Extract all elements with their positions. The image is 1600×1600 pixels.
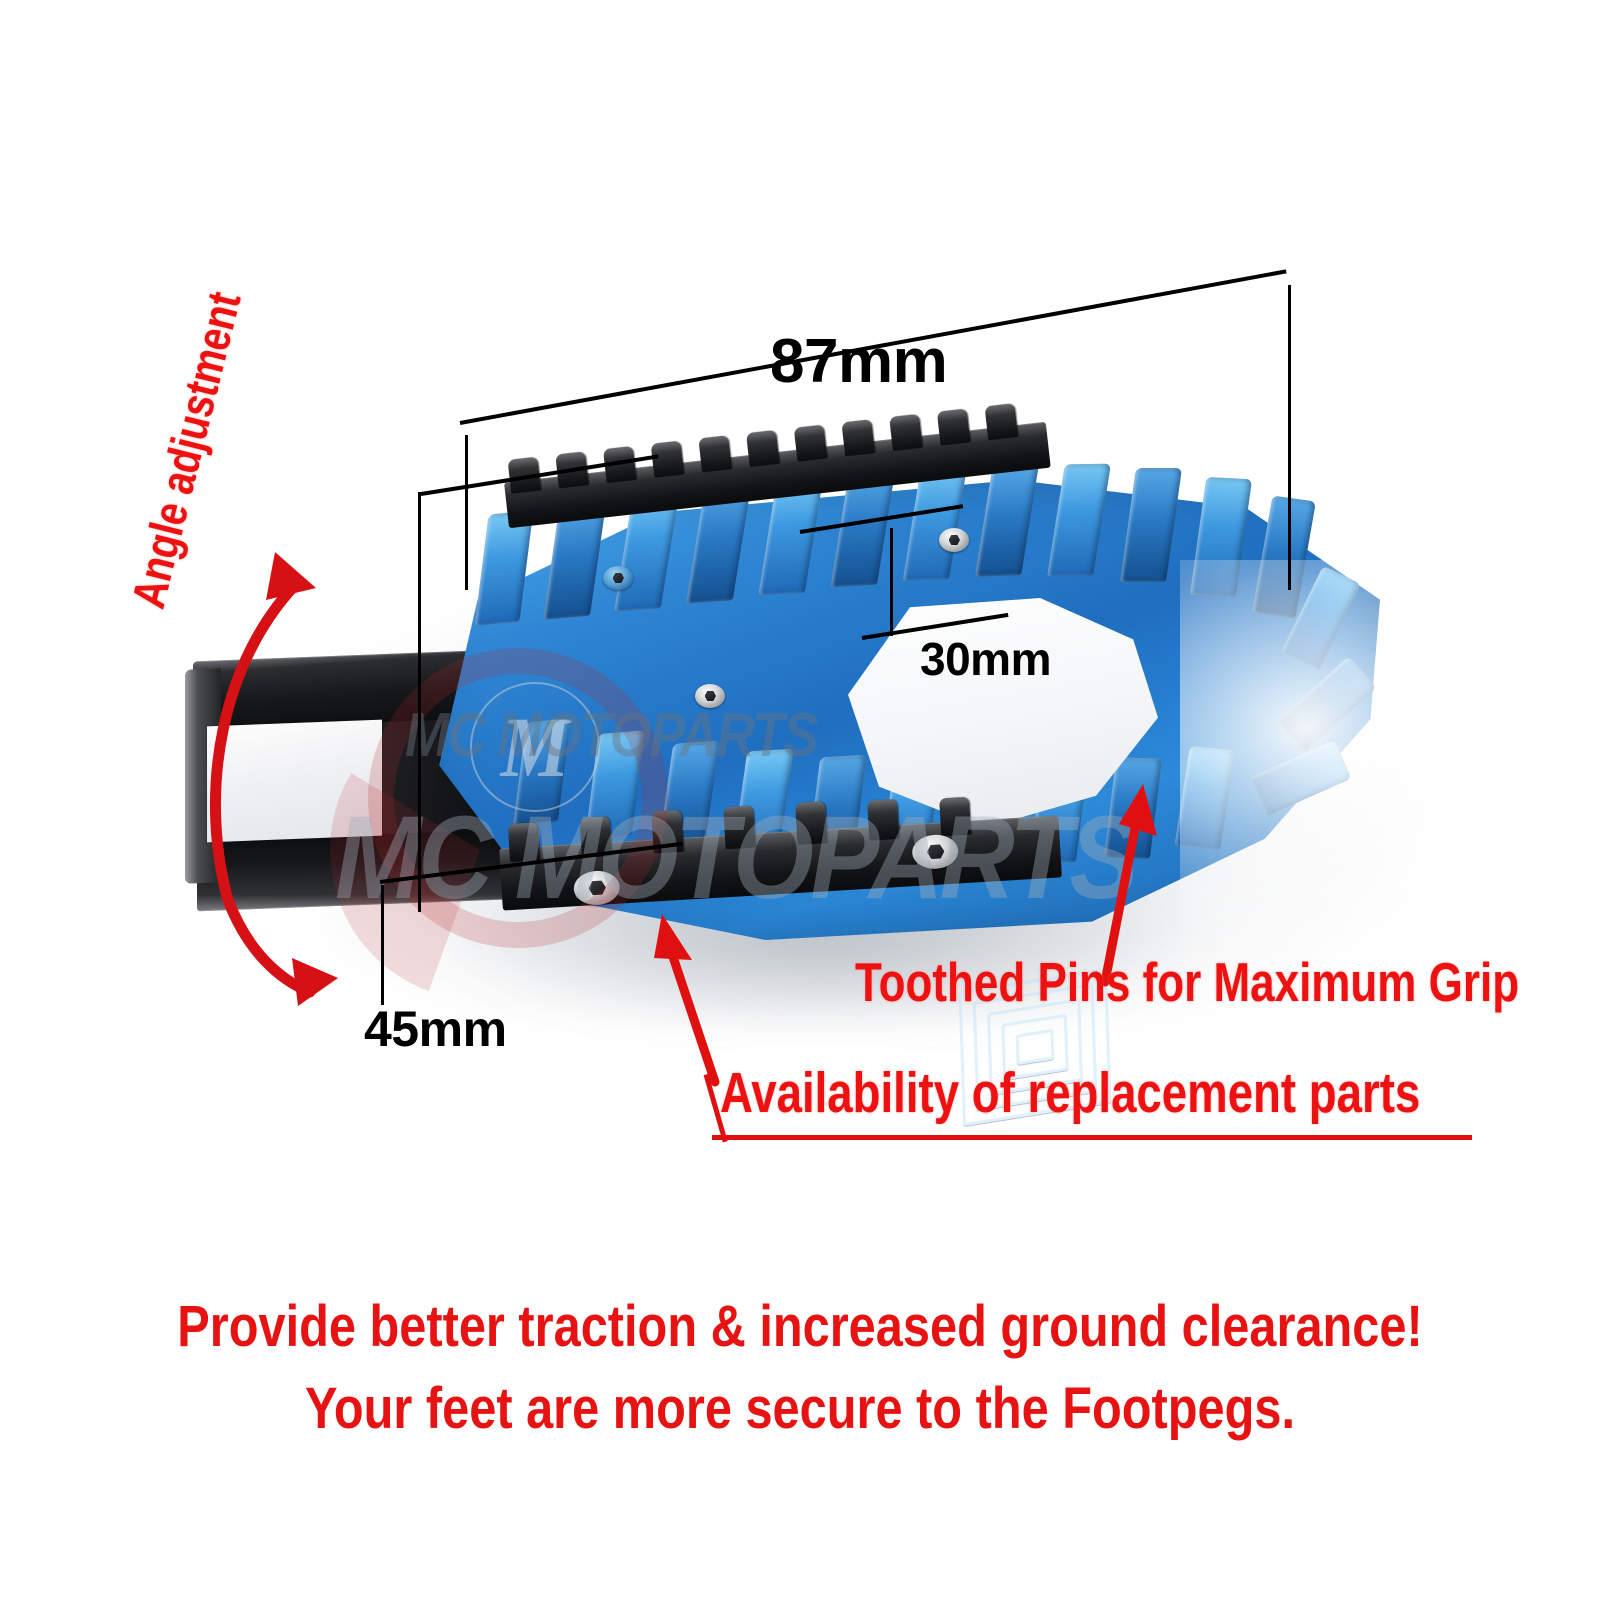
tagline-line-2: Your feet are more secure to the Footpeg… bbox=[128, 1375, 1472, 1442]
body-screw-center bbox=[695, 684, 725, 708]
dim-30mm-line bbox=[890, 528, 893, 636]
dim-label-87mm: 87mm bbox=[770, 326, 947, 397]
body-screw-upper-left bbox=[603, 566, 633, 590]
annotation-toothed-pins: Toothed Pins for Maximum Grip bbox=[855, 950, 1519, 1014]
annotation-replacement-parts: Availability of replacement parts bbox=[720, 1060, 1420, 1126]
product-photo: M MC MOTOPARTS MC MOTOPARTS 87mm 45mm 30… bbox=[0, 0, 1600, 1270]
watermark-logo-ring: M bbox=[470, 682, 600, 812]
tagline-line-1: Provide better traction & increased grou… bbox=[128, 1293, 1472, 1360]
dim-87mm-ext-left bbox=[465, 435, 468, 590]
watermark-logo-letter: M bbox=[478, 697, 591, 797]
angle-adjustment-arrow bbox=[170, 540, 390, 1020]
product-image: M MC MOTOPARTS MC MOTOPARTS 87mm 45mm 30… bbox=[0, 0, 1600, 1600]
dim-45mm-ext-right bbox=[418, 492, 421, 912]
replacement-parts-underline bbox=[712, 1135, 1472, 1140]
body-screw-upper-right bbox=[939, 528, 969, 552]
dim-87mm-ext-right bbox=[1288, 285, 1291, 590]
dim-label-30mm: 30mm bbox=[920, 632, 1051, 686]
photo-highlight bbox=[1180, 560, 1600, 980]
